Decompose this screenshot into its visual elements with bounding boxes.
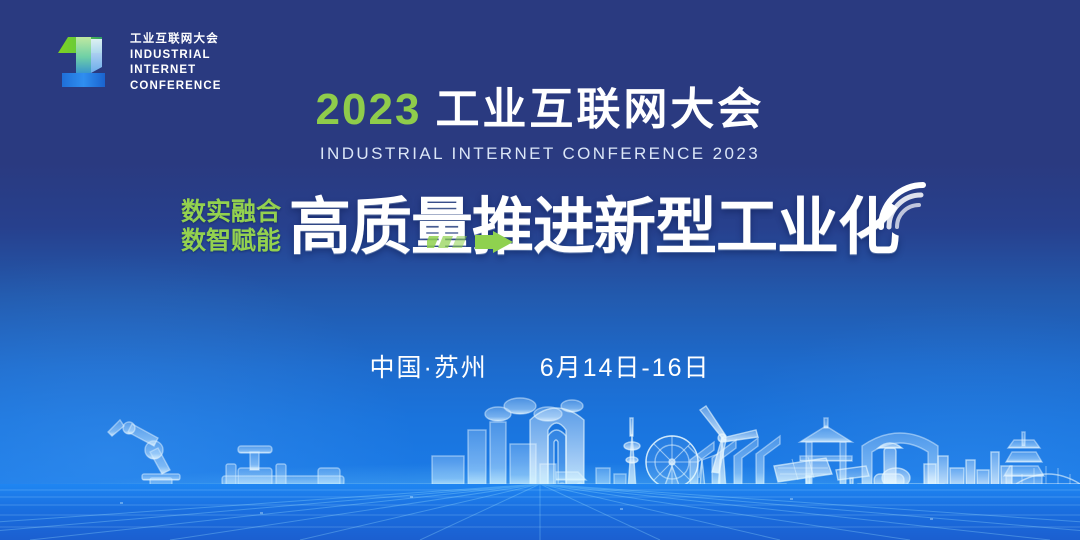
logo-english-line-1: INDUSTRIAL [130, 48, 222, 64]
conference-logo[interactable]: 工业互联网大会 INDUSTRIAL INTERNET CONFERENCE [56, 32, 222, 95]
ground-grid [0, 484, 1080, 540]
title-year: 2023 [316, 88, 422, 132]
slogan-line-1: 数实融合 [181, 198, 281, 228]
conference-title-block: 2023 工业互联网大会 INDUSTRIAL INTERNET CONFERE… [0, 88, 1080, 164]
logo-chinese-name: 工业互联网大会 [130, 32, 222, 48]
conference-banner: 工业互联网大会 INDUSTRIAL INTERNET CONFERENCE 2… [0, 0, 1080, 540]
logo-english-line-2: INTERNET [130, 63, 222, 79]
city-industry-skyline [0, 390, 1080, 540]
title-english: INDUSTRIAL INTERNET CONFERENCE 2023 [0, 144, 1080, 164]
headline-main-text: 高质量推进新型工业化 [289, 197, 899, 259]
slogan-line-2: 数智赋能 [181, 227, 281, 257]
logo-text-group: 工业互联网大会 INDUSTRIAL INTERNET CONFERENCE [130, 32, 222, 95]
headline-inner: 数实融合 数智赋能 高质量推进新型工业化 [181, 197, 899, 259]
slogan-block: 数实融合 数智赋能 [181, 198, 281, 259]
event-date-location: 中国·苏州 6月14日-16日 [0, 348, 1080, 384]
headline-block: 数实融合 数智赋能 高质量推进新型工业化 [0, 178, 1080, 278]
title-chinese: 工业互联网大会 [435, 88, 764, 132]
wifi-signal-icon [871, 177, 933, 233]
green-right-arrow-icon [427, 231, 513, 253]
event-location: 中国·苏州 [369, 354, 487, 382]
title-main-line: 2023 工业互联网大会 [0, 88, 1080, 132]
logo-mark-icon [56, 33, 120, 95]
event-dates: 6月14日-16日 [540, 354, 711, 382]
